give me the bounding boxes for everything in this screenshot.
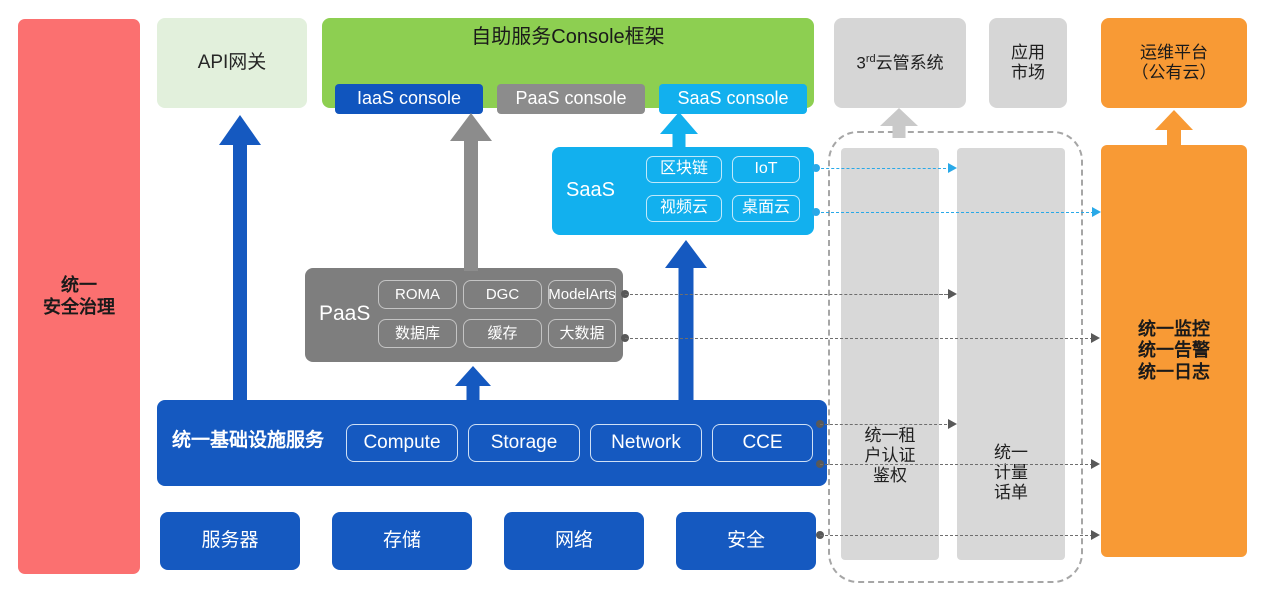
hardware-block-server[interactable]: 服务器	[160, 512, 300, 570]
paas-chip-roma[interactable]: ROMA	[378, 280, 457, 309]
infra-chip-cce[interactable]: CCE	[712, 424, 813, 462]
hardware-block-storage[interactable]: 存储	[332, 512, 472, 570]
unified-infrastructure-label: 统一基础设施服务	[172, 430, 324, 452]
connector-infra-to-auth	[820, 424, 947, 425]
connector-saas-to-ops	[816, 212, 1094, 213]
paas-chip-cache[interactable]: 缓存	[463, 319, 542, 348]
unified-alarm-label: 统一告警	[1138, 340, 1210, 361]
connector-arrowhead-saas-ops	[1092, 207, 1101, 217]
connector-hardware-to-ops	[820, 535, 1093, 536]
infra-chip-compute[interactable]: Compute	[346, 424, 458, 462]
ops-platform-line-2: （公有云）	[1132, 63, 1217, 83]
connector-arrowhead-saas-auth	[948, 163, 957, 173]
security-line-2: 安全治理	[43, 297, 115, 318]
saas-layer-box[interactable]: SaaS 区块链 IoT 视频云 桌面云	[552, 147, 814, 235]
connector-arrowhead-paas-auth	[948, 289, 957, 299]
arrow-saas-to-console	[660, 112, 698, 150]
hardware-block-network[interactable]: 网络	[504, 512, 644, 570]
iaas-console-chip[interactable]: IaaS console	[335, 84, 483, 114]
hardware-block-security[interactable]: 安全	[676, 512, 816, 570]
connector-auth-to-metering	[880, 294, 948, 295]
console-frame-title: 自助服务Console框架	[322, 26, 814, 50]
app-market-line-2: 市场	[1011, 63, 1045, 83]
app-market-box[interactable]: 应用 市场	[989, 18, 1067, 108]
api-gateway-label: API网关	[198, 52, 267, 74]
arrow-shared-services-to-third-party	[880, 108, 918, 138]
app-market-line-1: 应用	[1011, 43, 1045, 63]
connector-paas-to-ops	[625, 338, 1093, 339]
paas-chip-dgc[interactable]: DGC	[463, 280, 542, 309]
security-line-1: 统一	[43, 275, 115, 296]
connector-arrowhead-infra-ops	[1091, 459, 1100, 469]
paas-chip-bigdata[interactable]: 大数据	[548, 319, 616, 348]
arrow-infra-to-api-gateway	[219, 115, 261, 403]
arrow-infra-to-paas	[455, 366, 491, 402]
api-gateway-box[interactable]: API网关	[157, 18, 307, 108]
shared-services-enclosure	[828, 131, 1083, 583]
arrow-paas-to-console	[450, 113, 492, 271]
architecture-diagram: 统一 安全治理 API网关 自助服务Console框架 IaaS console…	[0, 0, 1265, 605]
paas-chip-modelarts[interactable]: ModelArts	[548, 280, 616, 309]
unified-log-label: 统一日志	[1138, 362, 1210, 383]
saas-chip-blockchain[interactable]: 区块链	[646, 156, 722, 183]
paas-console-chip[interactable]: PaaS console	[497, 84, 645, 114]
saas-console-chip[interactable]: SaaS console	[659, 84, 807, 114]
unified-monitoring-alarm-log-panel[interactable]: 统一监控 统一告警 统一日志	[1101, 145, 1247, 557]
infra-chip-network[interactable]: Network	[590, 424, 702, 462]
saas-chip-iot[interactable]: IoT	[732, 156, 800, 183]
self-service-console-frame[interactable]: 自助服务Console框架 IaaS console PaaS console …	[322, 18, 814, 108]
unified-infrastructure-service-bar[interactable]: 统一基础设施服务 Compute Storage Network CCE	[157, 400, 827, 486]
unified-monitoring-label: 统一监控	[1138, 319, 1210, 340]
saas-chip-video-cloud[interactable]: 视频云	[646, 195, 722, 222]
connector-arrowhead-infra-auth	[948, 419, 957, 429]
ops-platform-public-cloud-box[interactable]: 运维平台 （公有云）	[1101, 18, 1247, 108]
connector-arrowhead-paas-ops	[1091, 333, 1100, 343]
connector-infra-to-ops	[820, 464, 1093, 465]
paas-chip-database[interactable]: 数据库	[378, 319, 457, 348]
ordinal-superscript: rd	[866, 53, 876, 65]
third-party-cloud-management-box[interactable]: 3rd云管系统	[834, 18, 966, 108]
saas-chip-desktop-cloud[interactable]: 桌面云	[732, 195, 800, 222]
paas-layer-box[interactable]: PaaS ROMA DGC ModelArts 数据库 缓存 大数据	[305, 268, 623, 362]
paas-layer-label: PaaS	[319, 302, 370, 327]
arrow-infra-to-saas	[665, 240, 707, 402]
connector-saas-to-auth	[816, 168, 946, 169]
ops-platform-line-1: 运维平台	[1132, 43, 1217, 63]
connector-arrowhead-hardware-ops	[1091, 530, 1100, 540]
infra-chip-storage[interactable]: Storage	[468, 424, 580, 462]
arrow-monitoring-to-ops-platform	[1155, 110, 1193, 146]
saas-layer-label: SaaS	[566, 179, 615, 203]
third-party-cloud-management-label: 3rd云管系统	[856, 53, 943, 74]
unified-security-governance-panel[interactable]: 统一 安全治理	[18, 19, 140, 574]
